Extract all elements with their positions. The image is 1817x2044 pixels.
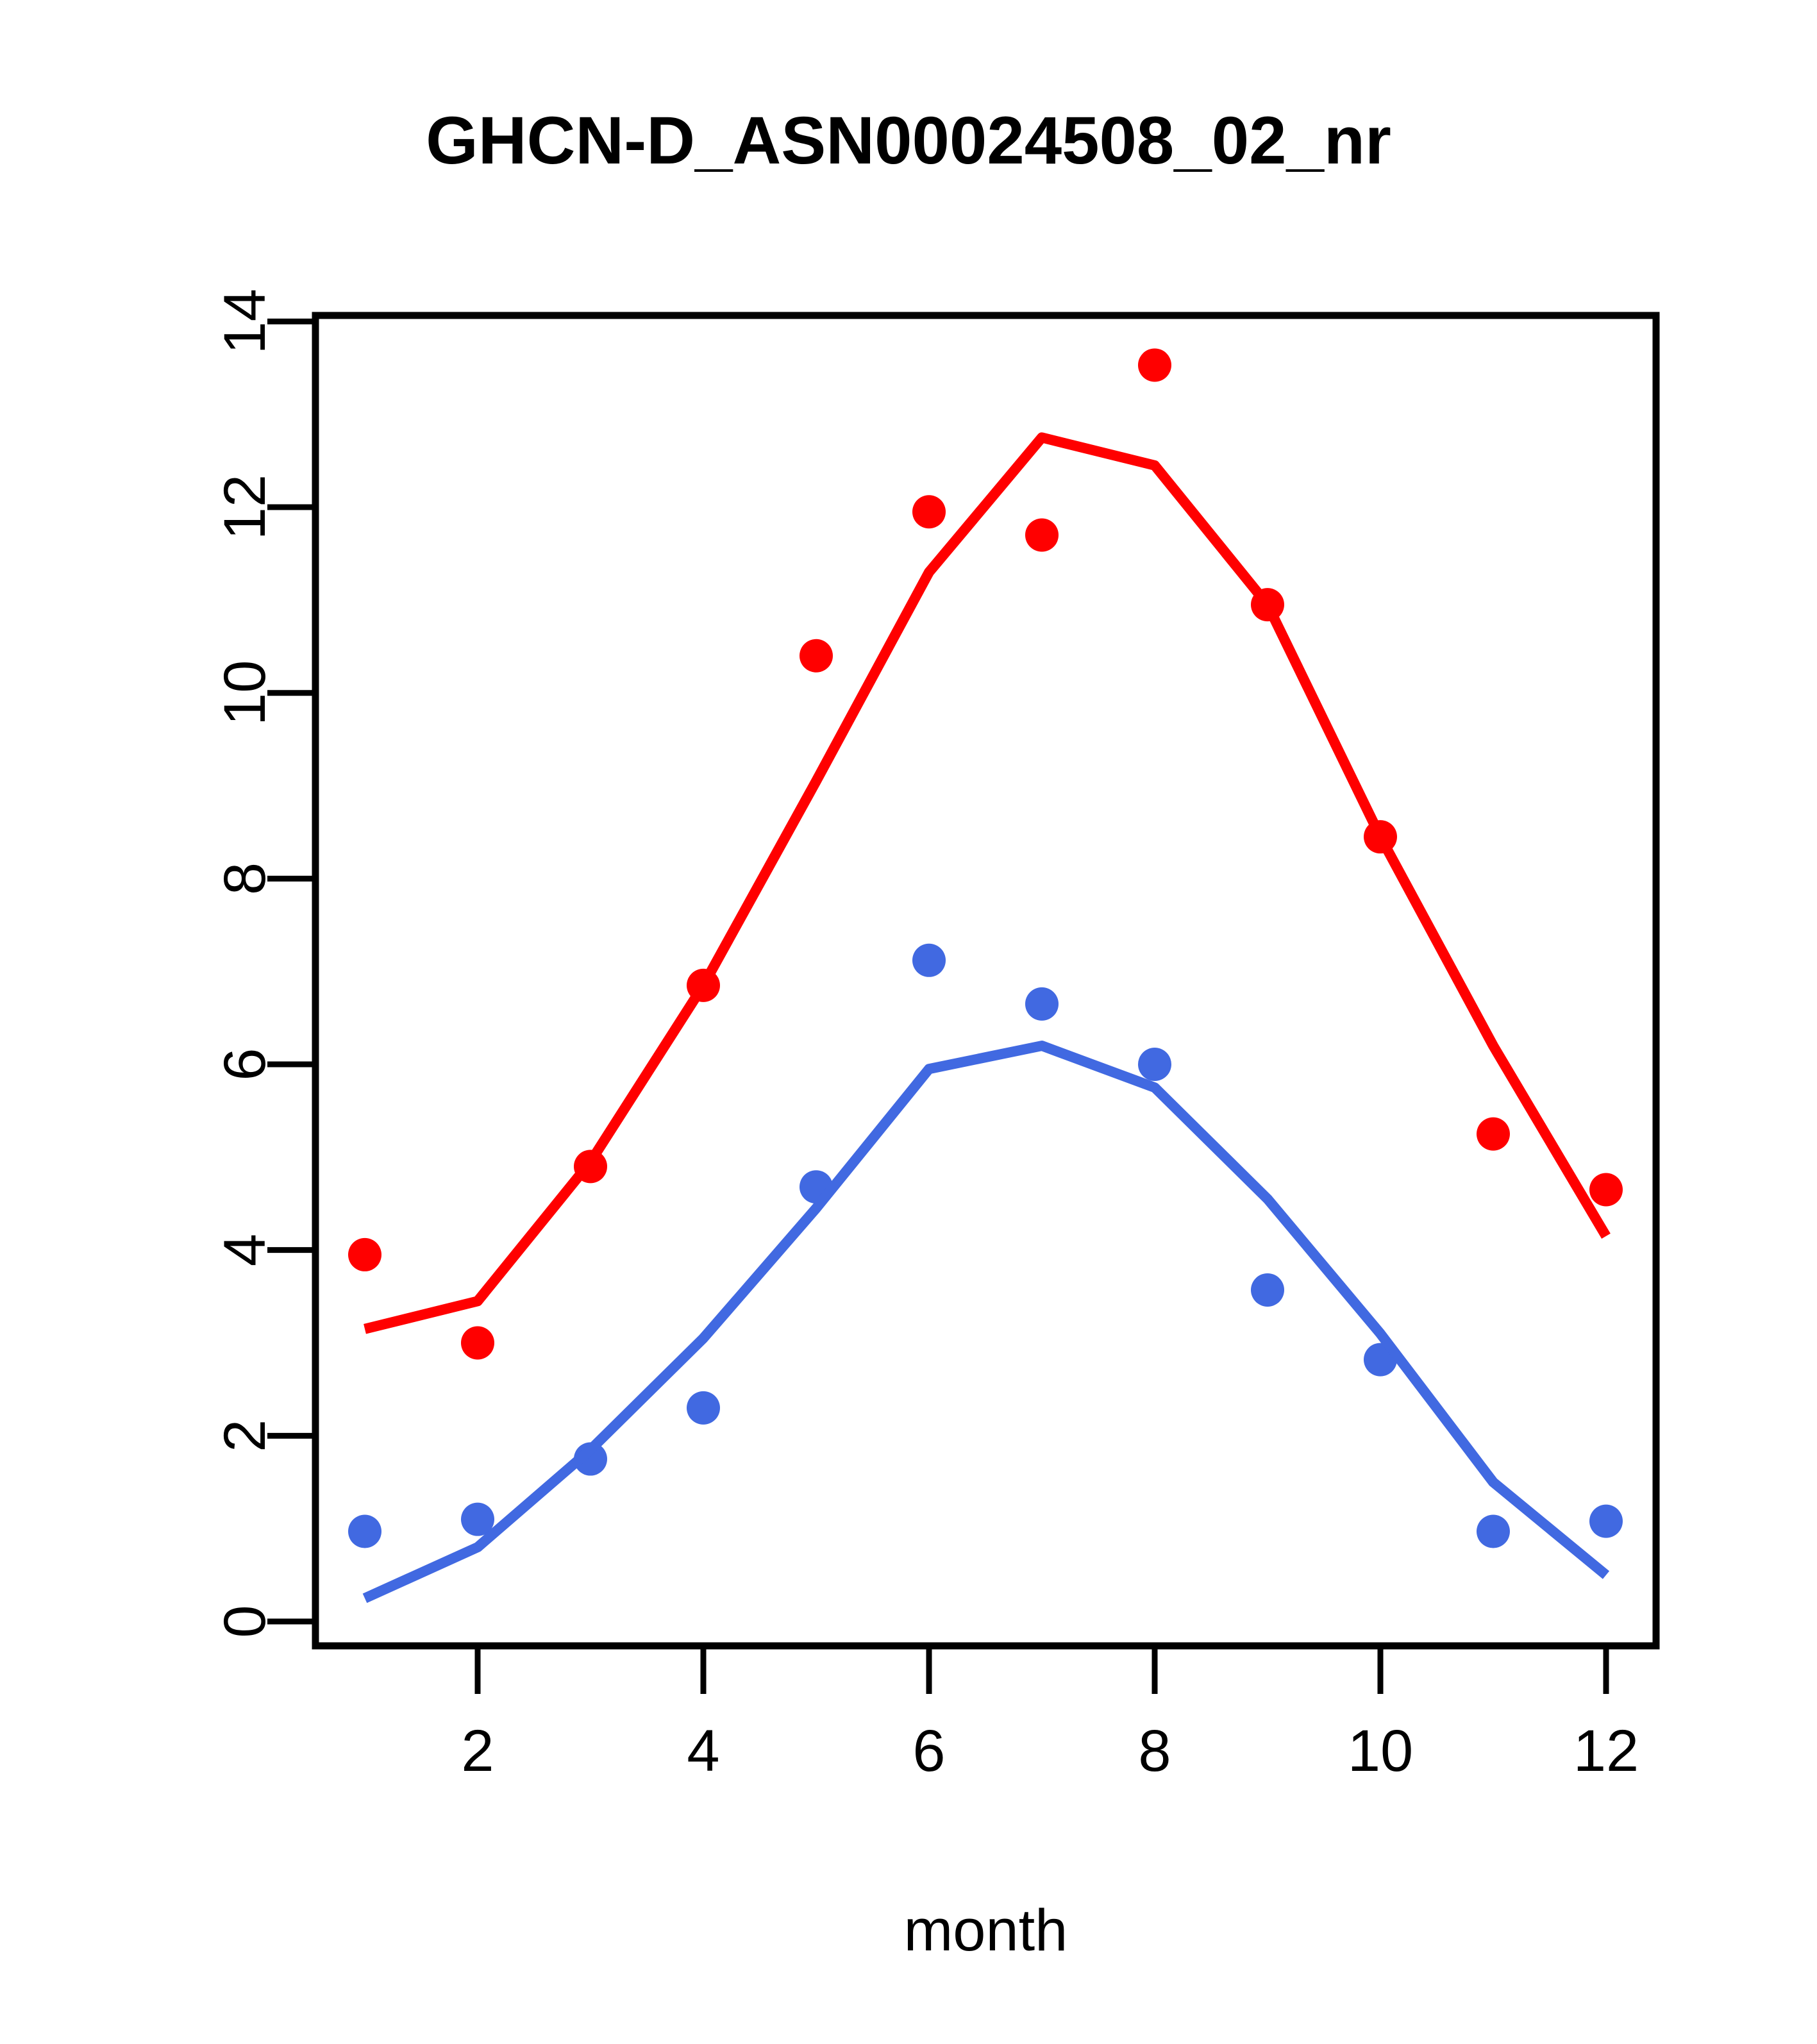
data-point (912, 495, 946, 528)
y-axis-tick-label: 14 (212, 289, 278, 354)
data-point (1477, 1118, 1510, 1151)
series-line-blue-line (365, 1046, 1606, 1598)
series-line-red-line (365, 437, 1606, 1328)
y-axis-tick-label: 0 (212, 1605, 278, 1638)
data-point (461, 1327, 494, 1360)
data-point (1477, 1515, 1510, 1548)
data-point (348, 1238, 381, 1271)
x-axis-tick-marks (478, 1646, 1606, 1694)
data-point (1251, 1273, 1284, 1307)
data-point (1589, 1173, 1623, 1207)
data-point (687, 1391, 720, 1425)
data-point (800, 639, 833, 673)
x-axis-tick-label: 4 (687, 1718, 719, 1784)
x-axis-tick-label: 6 (912, 1718, 945, 1784)
data-point (1138, 348, 1171, 381)
y-axis-tick-labels: 02468101214 (212, 289, 278, 1638)
y-axis-tick-label: 12 (212, 474, 278, 540)
data-point (1025, 987, 1059, 1021)
y-axis-tick-label: 6 (212, 1048, 278, 1080)
y-axis-tick-label: 2 (212, 1420, 278, 1452)
data-point (1025, 518, 1059, 551)
y-axis-tick-label: 8 (212, 862, 278, 895)
y-axis-tick-label: 10 (212, 660, 278, 726)
data-point (1138, 1048, 1171, 1081)
data-point (1589, 1505, 1623, 1538)
y-axis-tick-label: 4 (212, 1234, 278, 1266)
x-axis-title: month (904, 1898, 1068, 1963)
chart-canvas: GHCN-D_ASN00024508_02_nr 02468101214 246… (0, 0, 1817, 2044)
chart-plot-area: 02468101214 24681012 month (0, 0, 1817, 2044)
data-point (912, 944, 946, 977)
data-point (348, 1515, 381, 1548)
x-axis-tick-label: 10 (1348, 1718, 1413, 1784)
x-axis-tick-label: 8 (1138, 1718, 1171, 1784)
data-series-layer (348, 348, 1623, 1598)
x-axis-tick-labels: 24681012 (461, 1718, 1639, 1784)
x-axis-tick-label: 12 (1573, 1718, 1639, 1784)
series-points-blue-points (348, 944, 1623, 1548)
x-axis-tick-label: 2 (461, 1718, 494, 1784)
